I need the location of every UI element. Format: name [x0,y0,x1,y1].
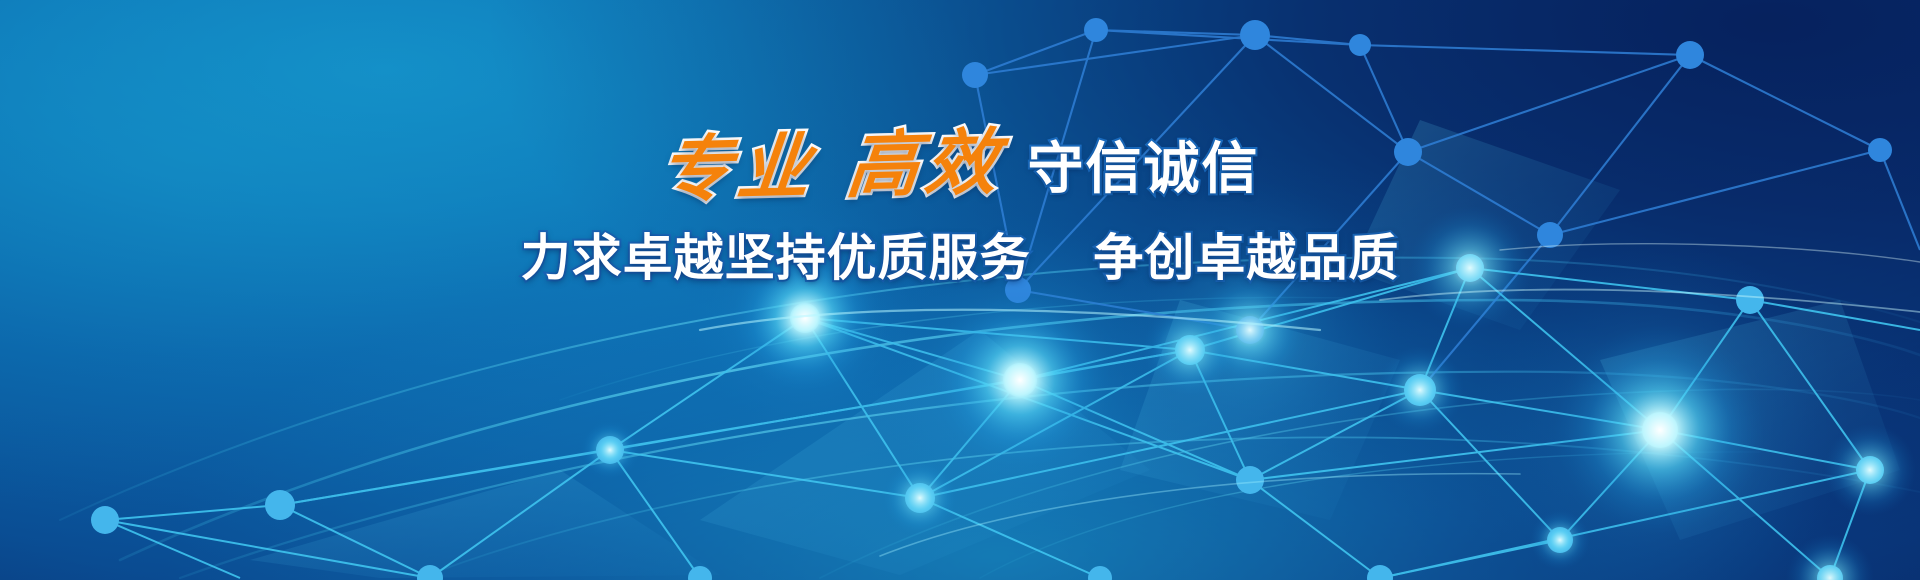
background-vignette [0,0,1920,580]
hero-banner: 专业 高效 守信诚信 力求卓越坚持优质服务 争创卓越品质 [0,0,1920,580]
